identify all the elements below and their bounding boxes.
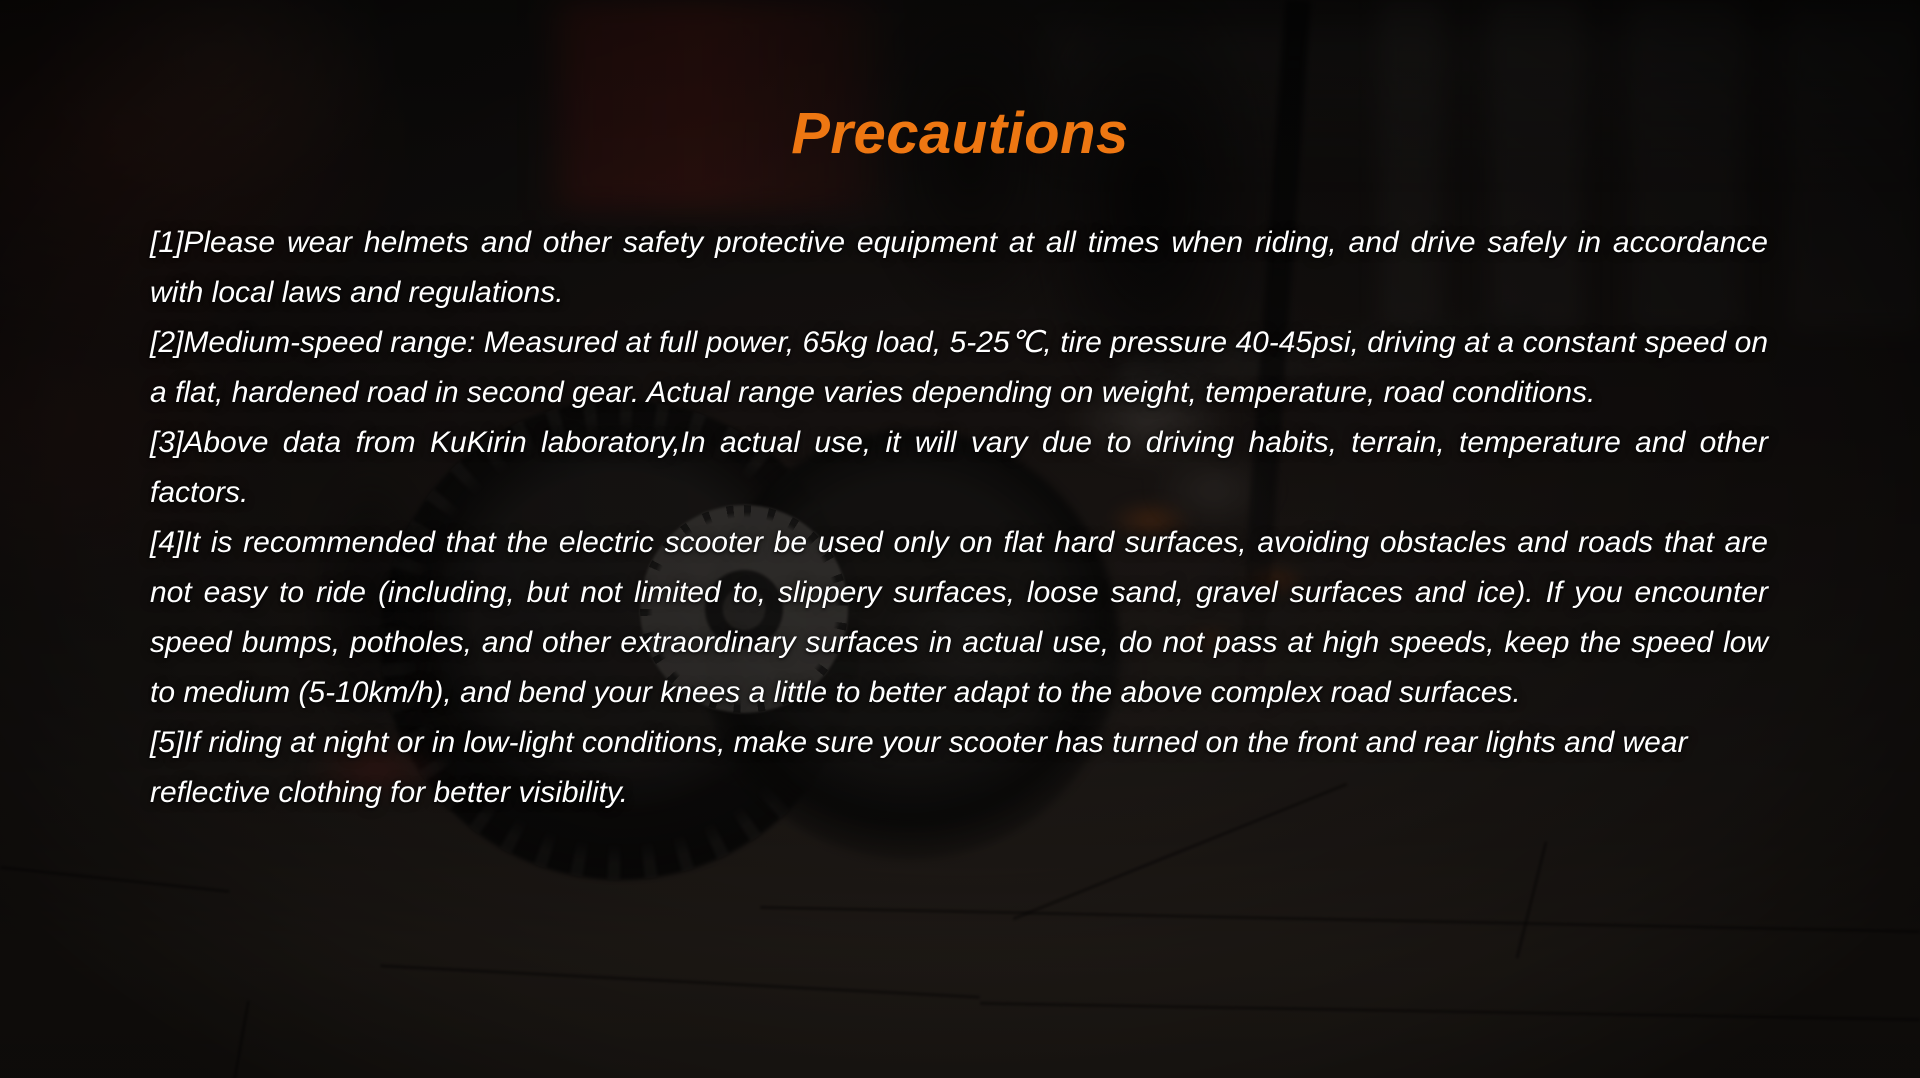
precaution-item-4: [4]It is recommended that the electric s… — [150, 518, 1768, 718]
precautions-list: [1]Please wear helmets and other safety … — [150, 218, 1768, 818]
precaution-item-3: [3]Above data from KuKirin laboratory,In… — [150, 418, 1768, 518]
page-title: Precautions — [0, 100, 1920, 167]
slide-root: Precautions [1]Please wear helmets and o… — [0, 0, 1920, 1078]
background-pavement — [0, 860, 1920, 1078]
precaution-item-2: [2]Medium-speed range: Measured at full … — [150, 318, 1768, 418]
precaution-item-5: [5]If riding at night or in low-light co… — [150, 718, 1768, 818]
precaution-item-1: [1]Please wear helmets and other safety … — [150, 218, 1768, 318]
